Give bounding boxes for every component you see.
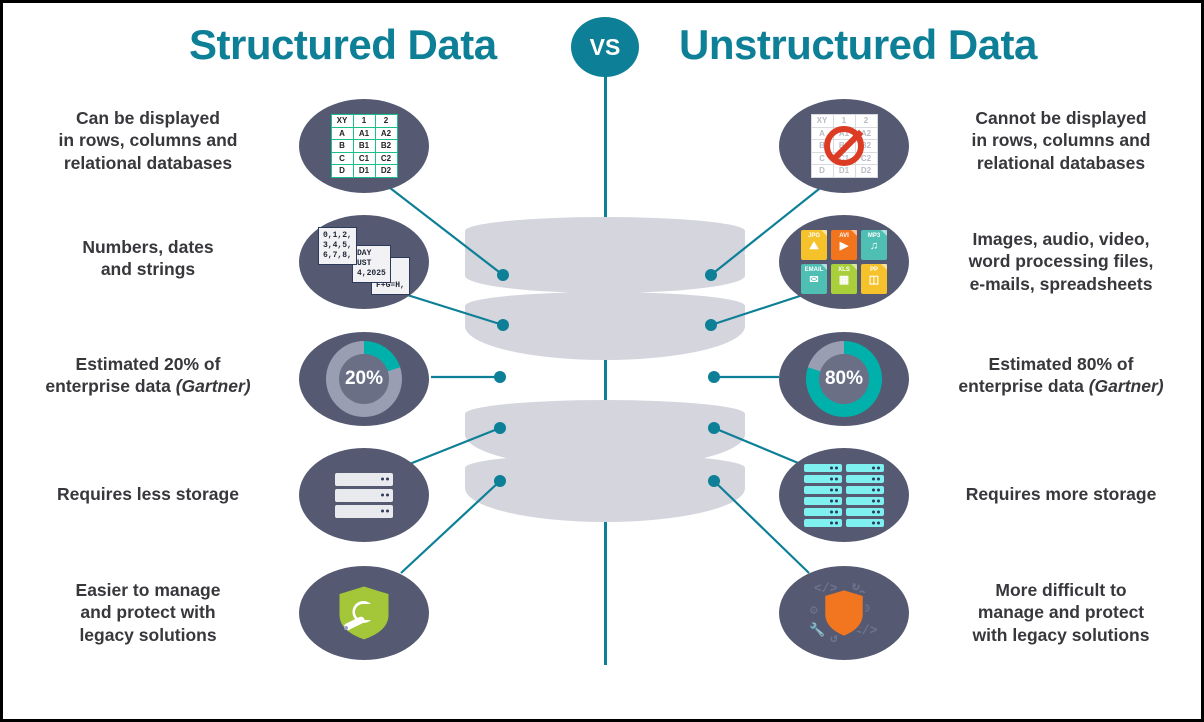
data-cards-icon-bubble[interactable]: 0,1,2, 3,4,5, 6,7,8, DAY UST 4,2025 YZ, … [299, 215, 429, 309]
server-led-dots [872, 466, 880, 469]
server-led-dots [830, 466, 838, 469]
table-cell: 1 [353, 115, 375, 128]
file-chip-label: PP [870, 267, 878, 273]
server-led-dots [872, 477, 880, 480]
infographic-canvas: Structured Data VS Unstructured Data [0, 0, 1204, 722]
gear-icon: ⚙ [810, 603, 818, 618]
shield-wrench-icon [328, 579, 400, 647]
table-cell: C [331, 152, 353, 165]
file-chip-email: EMAIL✉ [801, 264, 827, 294]
server-led-dots [830, 521, 838, 524]
table-cell: D2 [855, 165, 877, 178]
shield-code-icon-bubble[interactable]: </> ↻ ⚙ ⚙ 🔧 </> ↺ C [779, 566, 909, 660]
file-types-icon: JPG⛰AVI▶MP3♫EMAIL✉XLS▦PP◫ [801, 230, 887, 294]
table-cell: A [331, 127, 353, 140]
data-table-blocked-icon-bubble[interactable]: XY12AA1A2BB1B2CC1C2DD1D2 [779, 99, 909, 193]
server-bar [804, 475, 842, 483]
file-chip-glyph: ⛰ [809, 240, 818, 253]
server-column [846, 464, 884, 527]
server-column [804, 464, 842, 527]
file-chip-glyph: ▶ [840, 240, 848, 253]
file-chip-label: MP3 [868, 233, 880, 239]
server-led-dots [872, 521, 880, 524]
file-chip-label: XLS [838, 267, 850, 273]
file-chip-label: EMAIL [805, 267, 824, 273]
server-bar [804, 464, 842, 472]
table-row: BB1B2 [331, 140, 397, 153]
table-row: DD1D2 [331, 165, 397, 178]
server-bar [804, 508, 842, 516]
table-cell: D [331, 165, 353, 178]
vs-badge: VS [571, 17, 639, 77]
server-bar [846, 508, 884, 516]
table-row: AA1A2 [331, 127, 397, 140]
table-row: XY12 [331, 115, 397, 128]
file-chip-glyph: ▦ [839, 274, 849, 287]
server-led-dots [381, 478, 389, 481]
file-chip-avi: AVI▶ [831, 230, 857, 260]
file-chip-mp3: MP3♫ [861, 230, 887, 260]
table-cell: XY [331, 115, 353, 128]
server-bar [846, 519, 884, 527]
server-bar [846, 464, 884, 472]
file-chip-label: JPG [808, 233, 820, 239]
table-cell: B [331, 140, 353, 153]
table-cell: 2 [855, 115, 877, 128]
numbers-card: 0,1,2, 3,4,5, 6,7,8, [318, 227, 357, 265]
table-cell: C1 [353, 152, 375, 165]
server-bar [846, 475, 884, 483]
file-types-icon-bubble[interactable]: JPG⛰AVI▶MP3♫EMAIL✉XLS▦PP◫ [779, 215, 909, 309]
file-chip-label: AVI [839, 233, 849, 239]
server-led-dots [872, 510, 880, 513]
server-led-dots [381, 494, 389, 497]
server-led-dots [872, 499, 880, 502]
table-row: CC1C2 [331, 152, 397, 165]
table-cell: C2 [375, 152, 397, 165]
donut-chart-20-icon: 20% [326, 341, 402, 417]
data-cards-icon: 0,1,2, 3,4,5, 6,7,8, DAY UST 4,2025 YZ, … [316, 225, 412, 299]
file-chip-jpg: JPG⛰ [801, 230, 827, 260]
server-led-dots [830, 499, 838, 502]
donut-chart-80-icon: 80% [806, 341, 882, 417]
server-stack-small-icon [335, 473, 393, 518]
server-led-dots [381, 510, 389, 513]
donut-20-value: 20% [339, 354, 389, 404]
donut-20-icon-bubble[interactable]: 20% [299, 332, 429, 426]
table-cell: A2 [375, 127, 397, 140]
server-bar [804, 519, 842, 527]
server-column [335, 473, 393, 518]
file-chip-glyph: ♫ [870, 240, 878, 253]
connector-lines [3, 3, 1204, 722]
table-cell: B1 [353, 140, 375, 153]
server-bar [846, 497, 884, 505]
server-bar [846, 486, 884, 494]
file-chip-glyph: ◫ [869, 274, 879, 287]
shield-code-icon: </> ↻ ⚙ ⚙ 🔧 </> ↺ C [808, 579, 880, 647]
file-chip-xls: XLS▦ [831, 264, 857, 294]
file-chip-glyph: ✉ [809, 274, 818, 287]
table-cell: D1 [833, 165, 855, 178]
server-stack-large-icon [804, 464, 884, 527]
server-bar [804, 486, 842, 494]
table-cell: D2 [375, 165, 397, 178]
donut-80-value: 80% [819, 354, 869, 404]
data-table-blocked-icon: XY12AA1A2BB1B2CC1C2DD1D2 [811, 114, 878, 178]
server-large-icon-bubble[interactable] [779, 448, 909, 542]
table-cell: 2 [375, 115, 397, 128]
table-row: DD1D2 [811, 165, 877, 178]
server-bar [335, 489, 393, 502]
server-led-dots [872, 488, 880, 491]
server-bar [335, 505, 393, 518]
prohibition-icon [824, 126, 864, 166]
shield-wrench-icon-bubble[interactable] [299, 566, 429, 660]
server-led-dots [830, 488, 838, 491]
table-cell: D [811, 165, 833, 178]
table-cell: XY [811, 115, 833, 128]
table-cell: B2 [375, 140, 397, 153]
server-small-icon-bubble[interactable] [299, 448, 429, 542]
donut-80-icon-bubble[interactable]: 80% [779, 332, 909, 426]
date-card: DAY UST 4,2025 [352, 245, 391, 283]
table-cell: D1 [353, 165, 375, 178]
server-led-dots [830, 510, 838, 513]
server-bar [335, 473, 393, 486]
server-bar [804, 497, 842, 505]
server-led-dots [830, 477, 838, 480]
data-table-icon-bubble[interactable]: XY12AA1A2BB1B2CC1C2DD1D2 [299, 99, 429, 193]
file-chip-pp: PP◫ [861, 264, 887, 294]
data-table-icon: XY12AA1A2BB1B2CC1C2DD1D2 [331, 114, 398, 178]
table-cell: A1 [353, 127, 375, 140]
